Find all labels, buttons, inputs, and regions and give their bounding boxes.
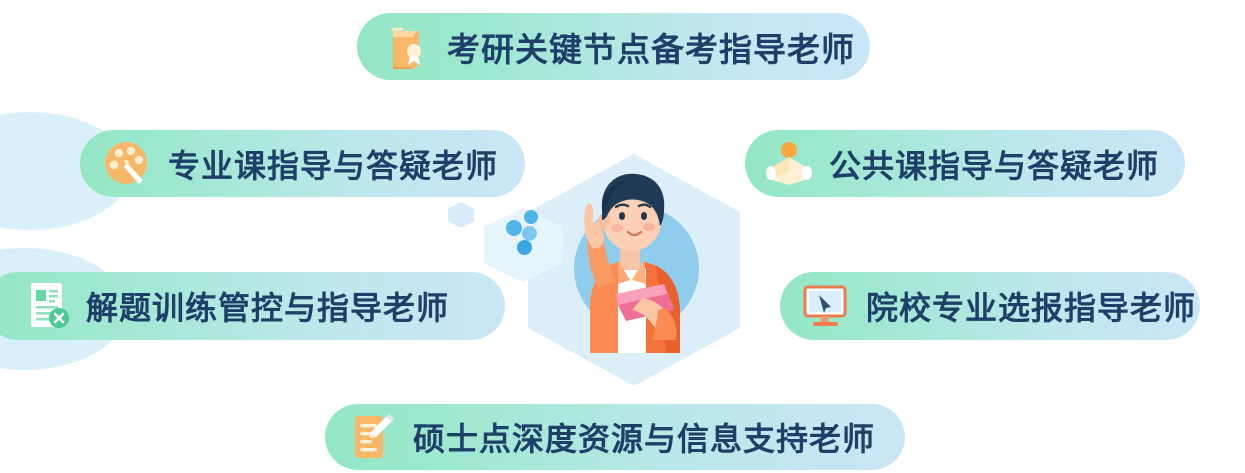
hexagon-dot-icon bbox=[448, 202, 474, 228]
item-exam-milestone-coach[interactable]: 考研关键节点备考指导老师 bbox=[357, 13, 870, 80]
item-label: 硕士点深度资源与信息支持老师 bbox=[413, 414, 875, 460]
palette-brush-icon bbox=[102, 139, 152, 189]
item-label: 院校专业选报指导老师 bbox=[866, 283, 1196, 329]
item-masters-resource-coach[interactable]: 硕士点深度资源与信息支持老师 bbox=[325, 404, 905, 470]
item-label: 公共课指导与答疑老师 bbox=[829, 141, 1159, 187]
item-label: 考研关键节点备考指导老师 bbox=[447, 23, 855, 71]
item-label: 解题训练管控与指导老师 bbox=[86, 283, 449, 329]
open-book-icon bbox=[765, 139, 813, 189]
infographic-canvas: 考研关键节点备考指导老师 专业课指导与答疑老师 公共课指导与答疑老师 bbox=[0, 0, 1245, 473]
monitor-cursor-icon bbox=[802, 282, 850, 330]
scroll-certificate-icon bbox=[383, 23, 427, 71]
item-school-major-selection-coach[interactable]: 院校专业选报指导老师 bbox=[780, 272, 1200, 340]
teacher-pointing-up-illustration bbox=[500, 140, 755, 396]
item-public-course-coach[interactable]: 公共课指导与答疑老师 bbox=[745, 130, 1185, 197]
item-label: 专业课指导与答疑老师 bbox=[168, 141, 498, 187]
item-major-course-coach[interactable]: 专业课指导与答疑老师 bbox=[80, 130, 525, 197]
teacher-figure bbox=[546, 158, 716, 353]
notepad-pen-icon bbox=[349, 412, 395, 462]
document-check-icon bbox=[26, 280, 72, 332]
item-problem-drill-coach[interactable]: 解题训练管控与指导老师 bbox=[0, 272, 505, 340]
